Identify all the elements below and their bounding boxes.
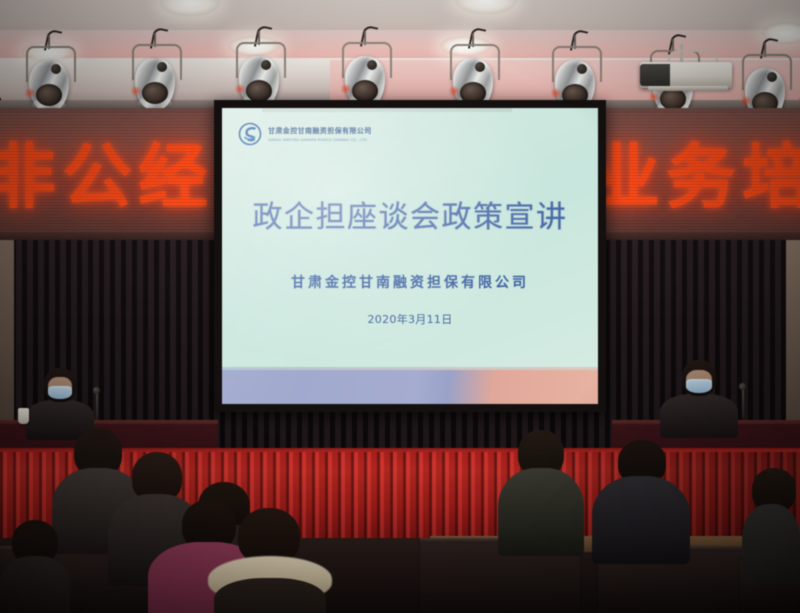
- audience-member: [196, 508, 336, 613]
- slide-subtitle: 甘肃金控甘南融资担保有限公司: [222, 272, 598, 292]
- conference-photo: 非公经 业务培 甘肃金控甘南融资担保有限公司 GANSU JINKONG GAN…: [0, 0, 800, 613]
- audience-member: [742, 468, 800, 578]
- spotlight-knob: [577, 64, 587, 74]
- spotlight-red-glow: [24, 88, 36, 98]
- paper-cup: [18, 408, 29, 424]
- projector-lens-side: [640, 64, 670, 86]
- screen-top-edge: [262, 108, 512, 112]
- slide-date: 2020年3月11日: [222, 311, 598, 327]
- audience-member: [498, 430, 584, 548]
- laptop: [37, 398, 79, 424]
- audience-shoulders: [214, 578, 326, 613]
- spotlight-red-glow: [130, 86, 142, 96]
- spotlight-red-glow: [340, 84, 352, 94]
- ceiling-projector: [640, 52, 732, 94]
- spotlight-knob: [51, 64, 61, 74]
- desk-microphone: [96, 392, 98, 420]
- spotlight-red-glow: [234, 84, 246, 94]
- microphone-head-icon: [93, 387, 100, 394]
- spotlight-knob: [367, 60, 377, 70]
- projector-base-plate: [648, 86, 728, 91]
- audience-shoulders: [0, 556, 70, 613]
- audience-shoulders: [592, 476, 690, 564]
- microphone-head-icon: [739, 383, 746, 390]
- slide-logo-company-cn: 甘肃金控甘南融资担保有限公司: [268, 126, 372, 136]
- spotlight-red-glow: [740, 96, 752, 106]
- desk-microphone: [742, 388, 744, 418]
- stage-spotlight: [128, 42, 182, 116]
- spotlight-knob: [767, 72, 777, 82]
- speaker-torso: [660, 394, 738, 438]
- spotlight-knob: [261, 60, 271, 70]
- face-mask-icon: [686, 379, 712, 393]
- swirl-circle-logo-icon: [238, 122, 262, 146]
- slide-logo: 甘肃金控甘南融资担保有限公司 GANSU JINKONG GANNAN RONG…: [238, 122, 372, 146]
- spotlight-lens: [246, 80, 272, 102]
- screen-light-sheen: [222, 108, 598, 404]
- spotlight-lens: [352, 80, 378, 102]
- stage-spotlight: [22, 44, 76, 118]
- audience-member: [592, 440, 690, 558]
- spotlight-lens: [142, 82, 168, 104]
- spotlight-red-glow: [448, 86, 460, 96]
- spotlight-knob: [157, 62, 167, 72]
- led-banner-left-text: 非公经: [0, 142, 214, 212]
- slide-logo-text: 甘肃金控甘南融资担保有限公司 GANSU JINKONG GANNAN RONG…: [268, 126, 372, 142]
- led-banner-right-text: 业务培: [590, 142, 800, 212]
- audience-member: [0, 520, 70, 613]
- spotlight-lens: [36, 84, 62, 106]
- masked-speaker-right: [660, 360, 744, 432]
- audience-shoulders: [742, 504, 800, 584]
- spotlight-red-glow: [550, 88, 562, 98]
- projection-screen[interactable]: 甘肃金控甘南融资担保有限公司 GANSU JINKONG GANNAN RONG…: [222, 108, 598, 404]
- audience-shoulders: [498, 468, 584, 556]
- slide-footer-band: [222, 370, 598, 404]
- slide-logo-company-en: GANSU JINKONG GANNAN RONGZI DANBAO CO., …: [268, 138, 372, 142]
- spotlight-knob: [475, 62, 485, 72]
- slide-title: 政企担座谈会政策宣讲: [222, 192, 598, 236]
